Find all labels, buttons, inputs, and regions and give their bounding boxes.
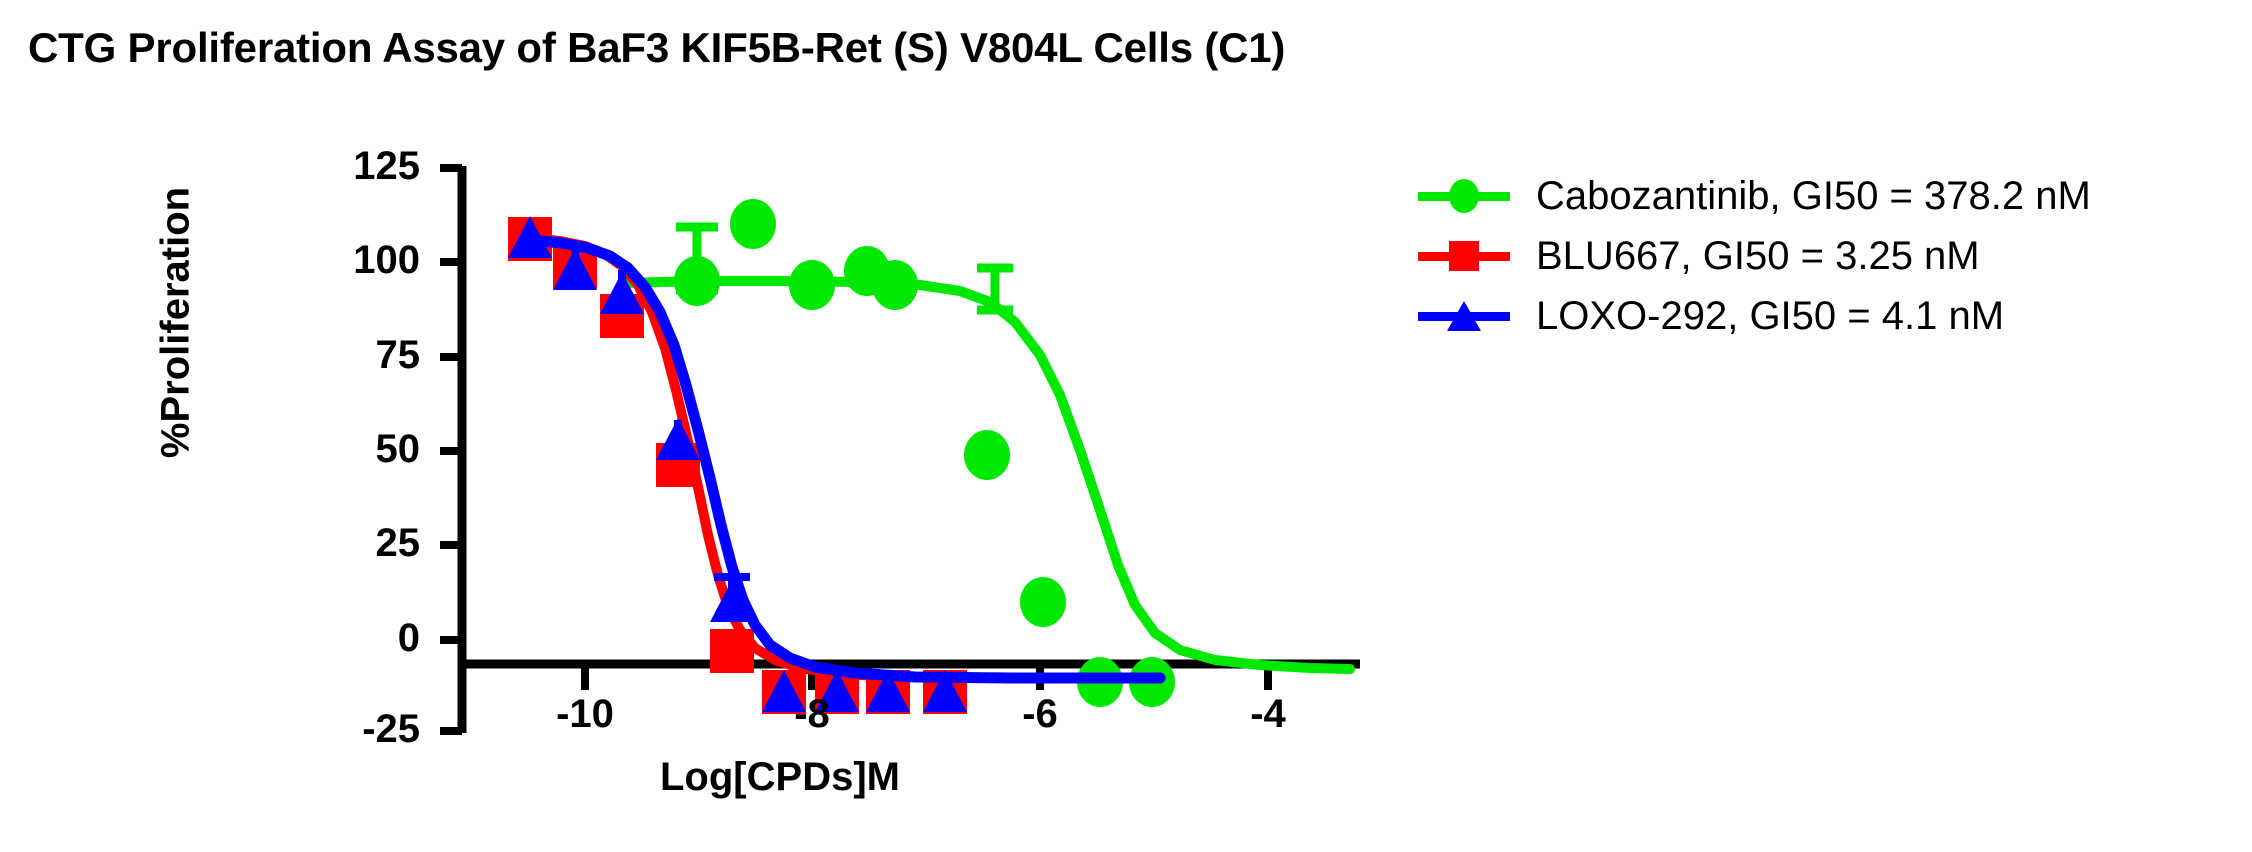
plot-area: 125 100 75 50 25 0 -25 -10 -8 -6 -4 %Pro…: [0, 0, 1420, 852]
legend-key-triangle-icon: [1418, 294, 1510, 338]
y-tick-100: 100: [250, 238, 420, 283]
legend-label-loxo292: LOXO-292, GI50 = 4.1 nM: [1536, 296, 2004, 336]
x-tick-neg10: -10: [515, 692, 655, 737]
legend-item-blu667[interactable]: BLU667, GI50 = 3.25 nM: [1418, 226, 2091, 286]
x-tick-neg6: -6: [970, 692, 1110, 737]
y-tick-neg25: -25: [250, 707, 420, 752]
chart-figure: CTG Proliferation Assay of BaF3 KIF5B-Re…: [0, 0, 2252, 852]
y-tick-50: 50: [250, 427, 420, 472]
legend-key-square-icon: [1418, 234, 1510, 278]
x-axis-title: Log[CPDs]M: [660, 755, 900, 800]
chart-legend: Cabozantinib, GI50 = 378.2 nM BLU667, GI…: [1418, 166, 2091, 346]
x-tick-neg8: -8: [742, 692, 882, 737]
y-tick-0: 0: [250, 616, 420, 661]
legend-label-blu667: BLU667, GI50 = 3.25 nM: [1536, 236, 1980, 276]
y-tick-75: 75: [250, 333, 420, 378]
legend-item-cabozantinib[interactable]: Cabozantinib, GI50 = 378.2 nM: [1418, 166, 2091, 226]
y-tick-125: 125: [250, 144, 420, 189]
x-tick-neg4: -4: [1198, 692, 1338, 737]
legend-item-loxo292[interactable]: LOXO-292, GI50 = 4.1 nM: [1418, 286, 2091, 346]
y-tick-25: 25: [250, 521, 420, 566]
legend-key-circle-icon: [1418, 174, 1510, 218]
legend-label-cabozantinib: Cabozantinib, GI50 = 378.2 nM: [1536, 176, 2091, 216]
y-axis-title: %Proliferation: [154, 133, 199, 513]
